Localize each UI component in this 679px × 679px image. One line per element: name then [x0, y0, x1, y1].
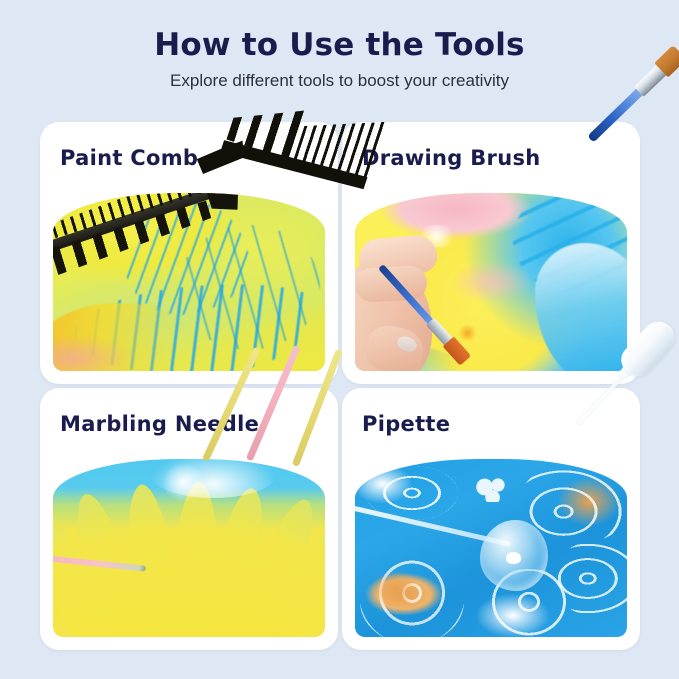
tool-card-label: Paint Comb — [60, 146, 198, 170]
tool-card-marbling-needle[interactable]: Marbling Needle — [40, 388, 338, 650]
tools-infographic: How to Use the Tools Explore different t… — [0, 0, 679, 679]
tool-card-paint-comb[interactable]: Paint Comb — [40, 122, 338, 384]
tool-card-label: Marbling Needle — [60, 412, 259, 436]
paint-tray — [53, 459, 325, 637]
tool-card-drawing-brush[interactable]: Drawing Brush — [342, 122, 640, 384]
marbled-paint-surface — [53, 459, 325, 637]
paint-tray — [355, 459, 627, 637]
tool-cards-grid: Paint Comb — [40, 122, 640, 650]
paint-splatter — [475, 477, 508, 502]
header: How to Use the Tools Explore different t… — [0, 26, 679, 92]
tool-photo-paint-comb — [53, 193, 325, 371]
page-subtitle: Explore different tools to boost your cr… — [0, 70, 679, 92]
tool-photo-marbling-needle — [53, 459, 325, 637]
page-title: How to Use the Tools — [0, 26, 679, 64]
tool-card-pipette[interactable]: Pipette — [342, 388, 640, 650]
tool-card-label: Drawing Brush — [362, 146, 541, 170]
marbled-paint-surface — [355, 459, 627, 637]
tool-photo-pipette — [355, 459, 627, 637]
paint-tray — [53, 193, 325, 371]
paint-tray — [355, 193, 627, 371]
water-drop — [480, 520, 548, 591]
tool-card-label: Pipette — [362, 412, 450, 436]
tool-photo-drawing-brush — [355, 193, 627, 371]
brush-icon — [590, 80, 679, 200]
